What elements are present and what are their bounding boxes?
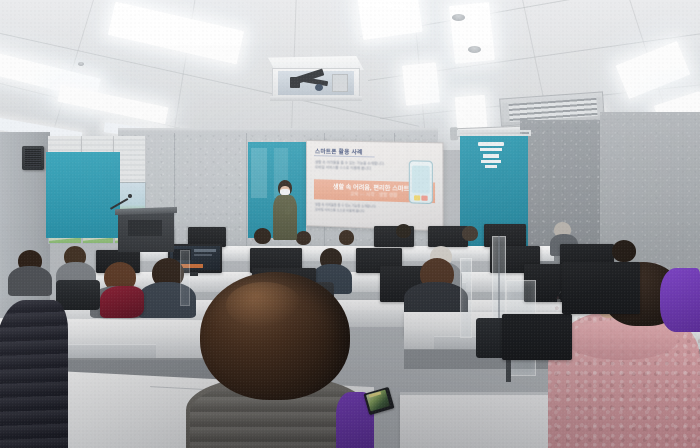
fire-sprinkler-head	[78, 62, 84, 66]
student-head	[339, 230, 354, 245]
face-mask	[280, 189, 290, 195]
student-head	[462, 226, 478, 241]
ceiling-light-panel	[402, 62, 440, 105]
student-head	[296, 231, 311, 245]
slide-body-text: 생활 속 어려움을 줄 수 있는 기능을 소개합니다. 모바일 서비스를 스스로…	[315, 160, 386, 172]
red-coat-on-chair	[100, 286, 144, 318]
instructor	[272, 180, 298, 240]
ceiling-light-panel	[449, 2, 495, 64]
desktop-monitor	[562, 262, 640, 314]
wall-speaker	[22, 146, 44, 170]
fire-sprinkler-head	[452, 14, 465, 21]
smartphone-on-desk[interactable]	[366, 390, 392, 412]
projection-screen: 스마트폰 활용 사례 생활 속 어려움을 줄 수 있는 기능을 소개합니다. 모…	[306, 140, 443, 231]
lecture-podium	[118, 212, 174, 252]
student-head	[396, 224, 411, 238]
desktop-monitor	[502, 314, 572, 360]
acrylic-divider	[460, 258, 472, 338]
ceiling-light-panel	[357, 0, 422, 40]
student-foreground-left	[0, 300, 68, 448]
task-chair[interactable]	[56, 280, 100, 310]
ceiling-light-panel	[455, 95, 488, 129]
student-head	[612, 240, 636, 262]
keyboard-drawer[interactable]	[60, 344, 156, 358]
student-foreground-center	[186, 272, 368, 448]
smartphone-illustration	[409, 160, 433, 204]
student-head	[254, 228, 271, 244]
student-torso	[8, 266, 52, 296]
fire-sprinkler-head	[468, 46, 481, 53]
projector-lens	[315, 84, 323, 91]
ceiling-light-panel	[108, 2, 244, 65]
ceiling-projector-enclosure	[268, 50, 364, 102]
classroom-photo: 스마트폰 활용 사례 생활 속 어려움을 줄 수 있는 기능을 소개합니다. 모…	[0, 0, 700, 448]
ceiling-light-panel	[57, 85, 168, 124]
ceiling-light-panel	[616, 41, 691, 99]
institutional-emblem-icon	[476, 142, 506, 168]
microphone	[110, 196, 132, 210]
teal-accent-panel	[46, 152, 120, 238]
student-purple-sleeve-right	[660, 268, 700, 332]
